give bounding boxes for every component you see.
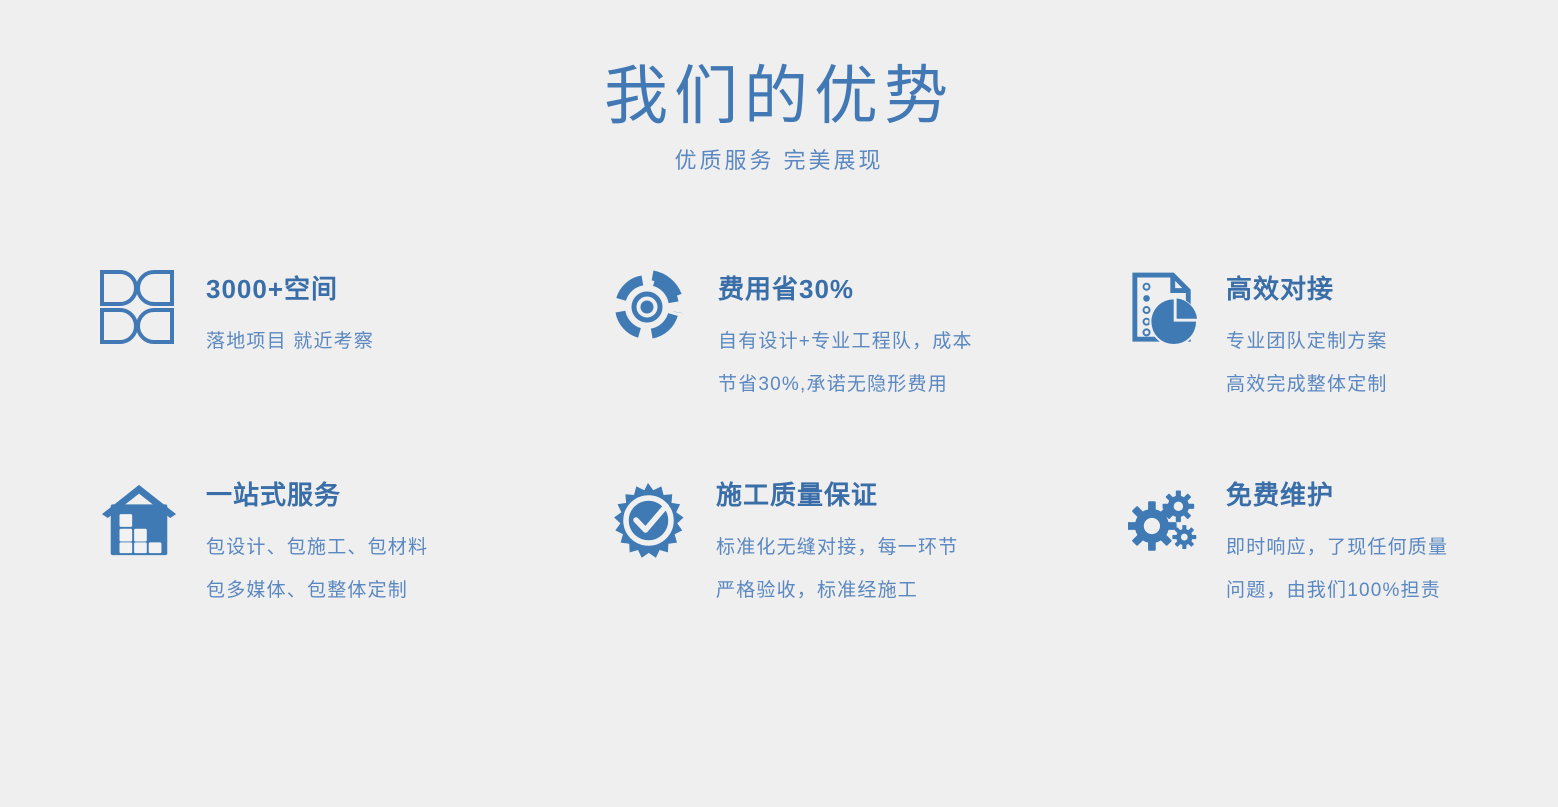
feature-text: 费用省30% 自有设计+专业工程队，成本 节省30%,承诺无隐形费用 (688, 268, 973, 406)
feature-text: 3000+空间 落地项目 就近考察 (178, 268, 374, 363)
feature-desc-line: 即时响应，了现任何质量 (1226, 526, 1448, 569)
feature-item-one-stop-service[interactable]: 一站式服务 包设计、包施工、包材料 包多媒体、包整体定制 (100, 476, 610, 612)
house-icon (100, 476, 178, 564)
feature-title: 3000+空间 (206, 272, 374, 306)
feature-desc-line: 包多媒体、包整体定制 (206, 569, 428, 612)
feature-desc-line: 包设计、包施工、包材料 (206, 526, 428, 569)
feature-title: 免费维护 (1226, 478, 1448, 512)
four-petals-icon (100, 268, 178, 356)
document-pie-chart-icon (1120, 268, 1198, 356)
feature-desc-line: 标准化无缝对接，每一环节 (716, 526, 958, 569)
page-title: 我们的优势 (0, 58, 1558, 134)
feature-title: 施工质量保证 (716, 478, 958, 512)
features-grid: 3000+空间 落地项目 就近考察 (0, 268, 1558, 612)
feature-desc-line: 问题，由我们100%担责 (1226, 569, 1448, 612)
feature-desc-line: 严格验收，标准经施工 (716, 569, 958, 612)
header: 我们的优势 优质服务 完美展现 (0, 58, 1558, 176)
feature-item-quality-guarantee[interactable]: 施工质量保证 标准化无缝对接，每一环节 严格验收，标准经施工 (610, 476, 1120, 612)
feature-desc-line: 节省30%,承诺无隐形费用 (718, 363, 973, 406)
feature-desc-line: 高效完成整体定制 (1226, 363, 1388, 406)
feature-item-efficient-docking[interactable]: 高效对接 专业团队定制方案 高效完成整体定制 (1120, 268, 1558, 476)
feature-item-space[interactable]: 3000+空间 落地项目 就近考察 (100, 268, 610, 476)
gears-icon (1120, 476, 1198, 564)
feature-item-cost-saving[interactable]: 费用省30% 自有设计+专业工程队，成本 节省30%,承诺无隐形费用 (610, 268, 1120, 476)
feature-text: 一站式服务 包设计、包施工、包材料 包多媒体、包整体定制 (178, 476, 428, 612)
advantages-slide: 我们的优势 优质服务 完美展现 3000+空间 落地项目 就近考 (0, 0, 1558, 807)
feature-title: 费用省30% (718, 272, 973, 306)
page-subtitle: 优质服务 完美展现 (0, 146, 1558, 176)
feature-desc-line: 专业团队定制方案 (1226, 320, 1388, 363)
feature-item-free-maintenance[interactable]: 免费维护 即时响应，了现任何质量 问题，由我们100%担责 (1120, 476, 1558, 612)
feature-desc-line: 自有设计+专业工程队，成本 (718, 320, 973, 363)
feature-text: 高效对接 专业团队定制方案 高效完成整体定制 (1198, 268, 1388, 406)
feature-text: 免费维护 即时响应，了现任何质量 问题，由我们100%担责 (1198, 476, 1448, 612)
feature-title: 一站式服务 (206, 478, 428, 512)
badge-check-icon (610, 476, 688, 564)
target-bullseye-icon (610, 268, 688, 356)
feature-desc-line: 落地项目 就近考察 (206, 320, 374, 363)
feature-title: 高效对接 (1226, 272, 1388, 306)
feature-text: 施工质量保证 标准化无缝对接，每一环节 严格验收，标准经施工 (688, 476, 958, 612)
